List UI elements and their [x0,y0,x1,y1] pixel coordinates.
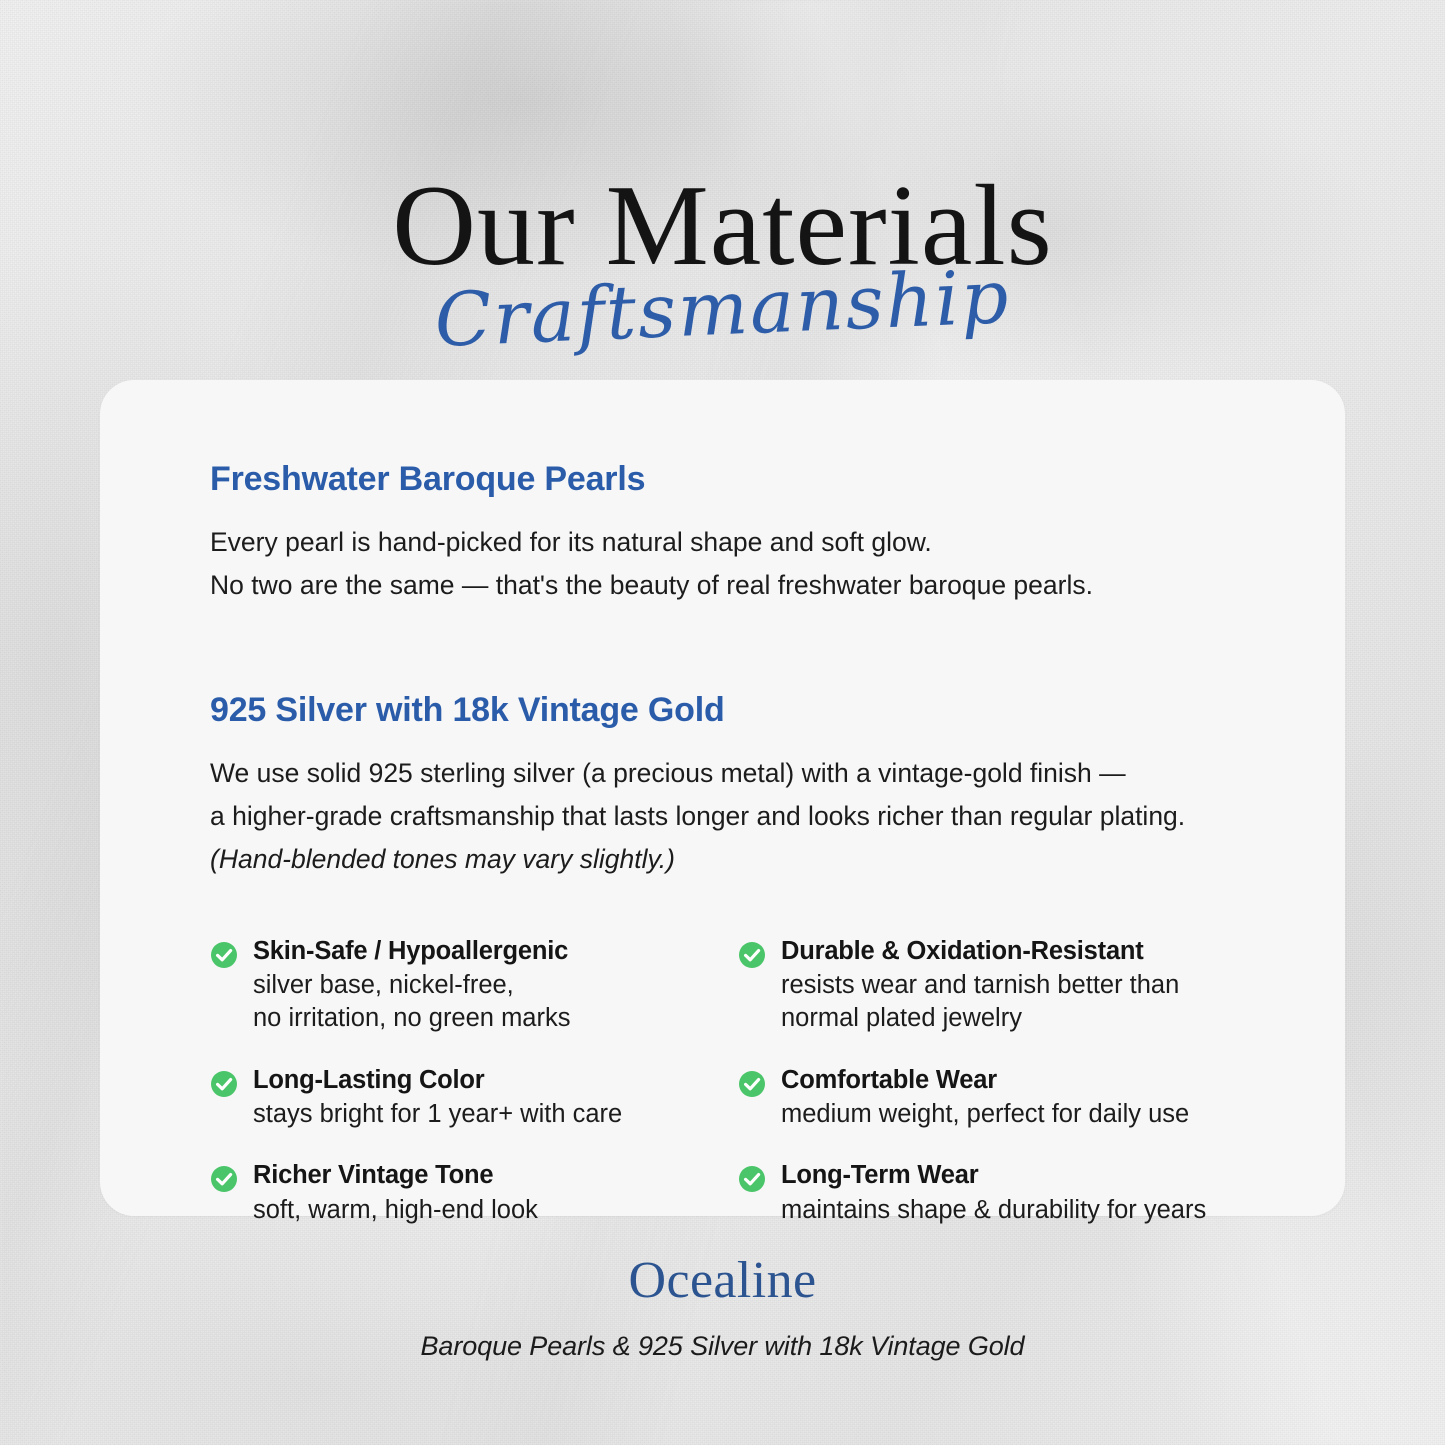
feature-text: Comfortable Wearmedium weight, perfect f… [781,1064,1189,1132]
feature-text: Durable & Oxidation-Resistantresists wea… [781,935,1179,1036]
brand-tagline: Baroque Pearls & 925 Silver with 18k Vin… [0,1331,1445,1362]
feature-title: Comfortable Wear [781,1064,1189,1097]
feature-title: Skin-Safe / Hypoallergenic [253,935,570,968]
feature-description-line: no irritation, no green marks [253,1002,570,1035]
page-header: Our Materials Craftsmanship [0,0,1445,380]
card-content: Freshwater Baroque Pearls Every pearl is… [210,460,1290,1227]
section-body-silver: We use solid 925 sterling silver (a prec… [210,752,1290,838]
feature-description: resists wear and tarnish better thannorm… [781,969,1179,1035]
check-circle-icon [738,1165,766,1193]
feature-title: Long-Lasting Color [253,1064,622,1097]
feature-description-line: maintains shape & durability for years [781,1194,1206,1227]
feature-description-line: normal plated jewelry [781,1002,1179,1035]
feature-text: Long-Term Wearmaintains shape & durabili… [781,1159,1206,1227]
feature-description-line: soft, warm, high-end look [253,1194,538,1227]
feature-item: Long-Term Wearmaintains shape & durabili… [738,1159,1290,1227]
content-card: Freshwater Baroque Pearls Every pearl is… [100,380,1345,1216]
feature-item: Richer Vintage Tonesoft, warm, high-end … [210,1159,738,1227]
feature-description: silver base, nickel-free,no irritation, … [253,969,570,1035]
section-925-silver-18k-vintage-gold: 925 Silver with 18k Vintage Gold We use … [210,691,1290,881]
feature-description: medium weight, perfect for daily use [781,1098,1189,1131]
feature-description: soft, warm, high-end look [253,1194,538,1227]
feature-description: stays bright for 1 year+ with care [253,1098,622,1131]
feature-item: Comfortable Wearmedium weight, perfect f… [738,1064,1290,1132]
feature-item: Long-Lasting Colorstays bright for 1 yea… [210,1064,738,1132]
feature-text: Skin-Safe / Hypoallergenicsilver base, n… [253,935,570,1036]
feature-description-line: resists wear and tarnish better than [781,969,1179,1002]
feature-text: Richer Vintage Tonesoft, warm, high-end … [253,1159,538,1227]
silver-line-2: a higher-grade craftsmanship that lasts … [210,795,1290,838]
check-circle-icon [210,1165,238,1193]
section-body-pearls: Every pearl is hand-picked for its natur… [210,521,1290,607]
feature-list: Skin-Safe / Hypoallergenicsilver base, n… [210,935,1290,1227]
feature-description-line: medium weight, perfect for daily use [781,1098,1189,1131]
silver-line-1: We use solid 925 sterling silver (a prec… [210,752,1290,795]
pearls-line-2: No two are the same — that's the beauty … [210,564,1290,607]
brand-name: Ocealine [0,1252,1445,1309]
feature-title: Durable & Oxidation-Resistant [781,935,1179,968]
feature-text: Long-Lasting Colorstays bright for 1 yea… [253,1064,622,1132]
section-heading-pearls: Freshwater Baroque Pearls [210,460,1290,499]
feature-item: Skin-Safe / Hypoallergenicsilver base, n… [210,935,738,1036]
materials-infographic-page: Our Materials Craftsmanship Freshwater B… [0,0,1445,1445]
section-heading-silver: 925 Silver with 18k Vintage Gold [210,691,1290,730]
feature-description: maintains shape & durability for years [781,1194,1206,1227]
feature-description-line: silver base, nickel-free, [253,969,570,1002]
pearls-line-1: Every pearl is hand-picked for its natur… [210,521,1290,564]
silver-disclaimer-note: (Hand-blended tones may vary slightly.) [210,838,1290,881]
feature-description-line: stays bright for 1 year+ with care [253,1098,622,1131]
page-footer: Ocealine Baroque Pearls & 925 Silver wit… [0,1252,1445,1362]
check-circle-icon [210,1070,238,1098]
check-circle-icon [210,941,238,969]
check-circle-icon [738,941,766,969]
feature-item: Durable & Oxidation-Resistantresists wea… [738,935,1290,1036]
feature-title: Long-Term Wear [781,1159,1206,1192]
section-freshwater-baroque-pearls: Freshwater Baroque Pearls Every pearl is… [210,460,1290,607]
check-circle-icon [738,1070,766,1098]
feature-title: Richer Vintage Tone [253,1159,538,1192]
